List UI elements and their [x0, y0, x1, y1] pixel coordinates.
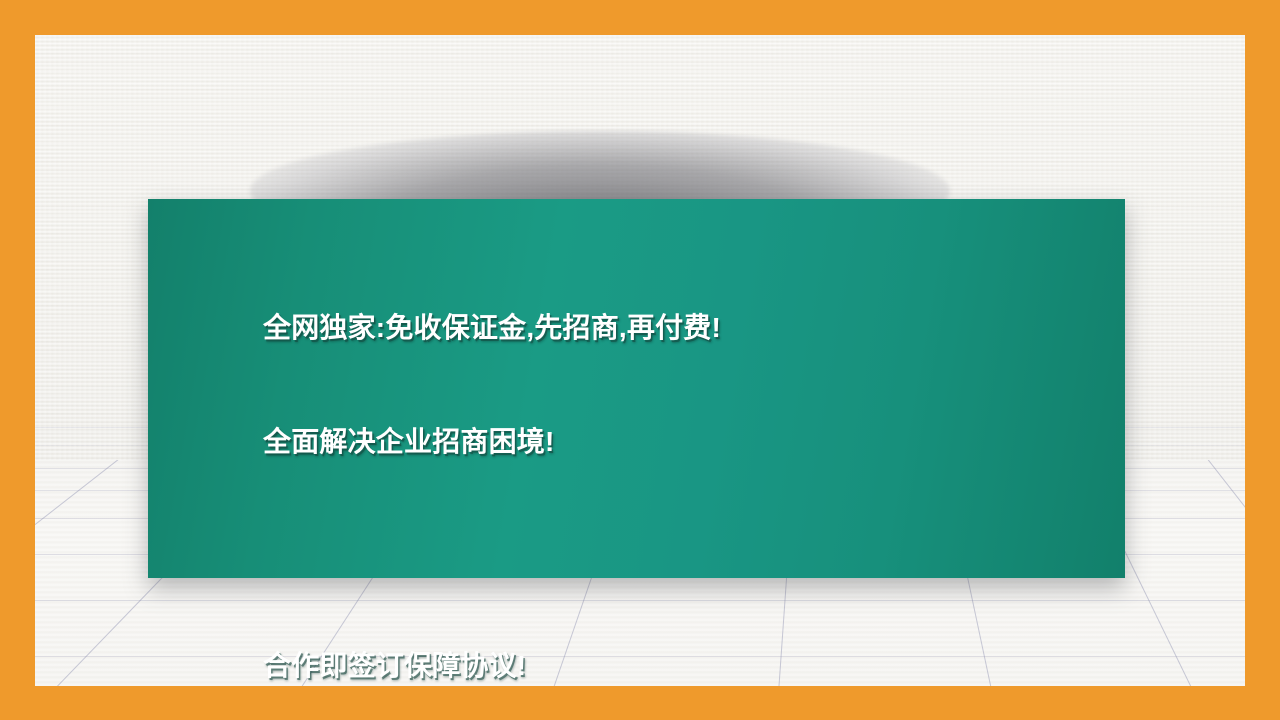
- promo-line: 全网独家:免收保证金,先招商,再付费!: [263, 309, 1125, 347]
- promo-panel: 全网独家:免收保证金,先招商,再付费! 全面解决企业招商困境! 合作即签订保障协…: [148, 199, 1125, 578]
- promo-line: 合作即签订保障协议!: [263, 647, 1125, 685]
- promo-line: 全面解决企业招商困境!: [263, 423, 1125, 461]
- promo-text-block: 全网独家:免收保证金,先招商,再付费! 全面解决企业招商困境! 合作即签订保障协…: [263, 233, 1125, 686]
- slide-canvas: 全网独家:免收保证金,先招商,再付费! 全面解决企业招商困境! 合作即签订保障协…: [0, 0, 1280, 720]
- promo-line-spacer: [263, 537, 1125, 571]
- scene-stage: 全网独家:免收保证金,先招商,再付费! 全面解决企业招商困境! 合作即签订保障协…: [35, 35, 1245, 686]
- floor-perspective-line: [1200, 460, 1245, 686]
